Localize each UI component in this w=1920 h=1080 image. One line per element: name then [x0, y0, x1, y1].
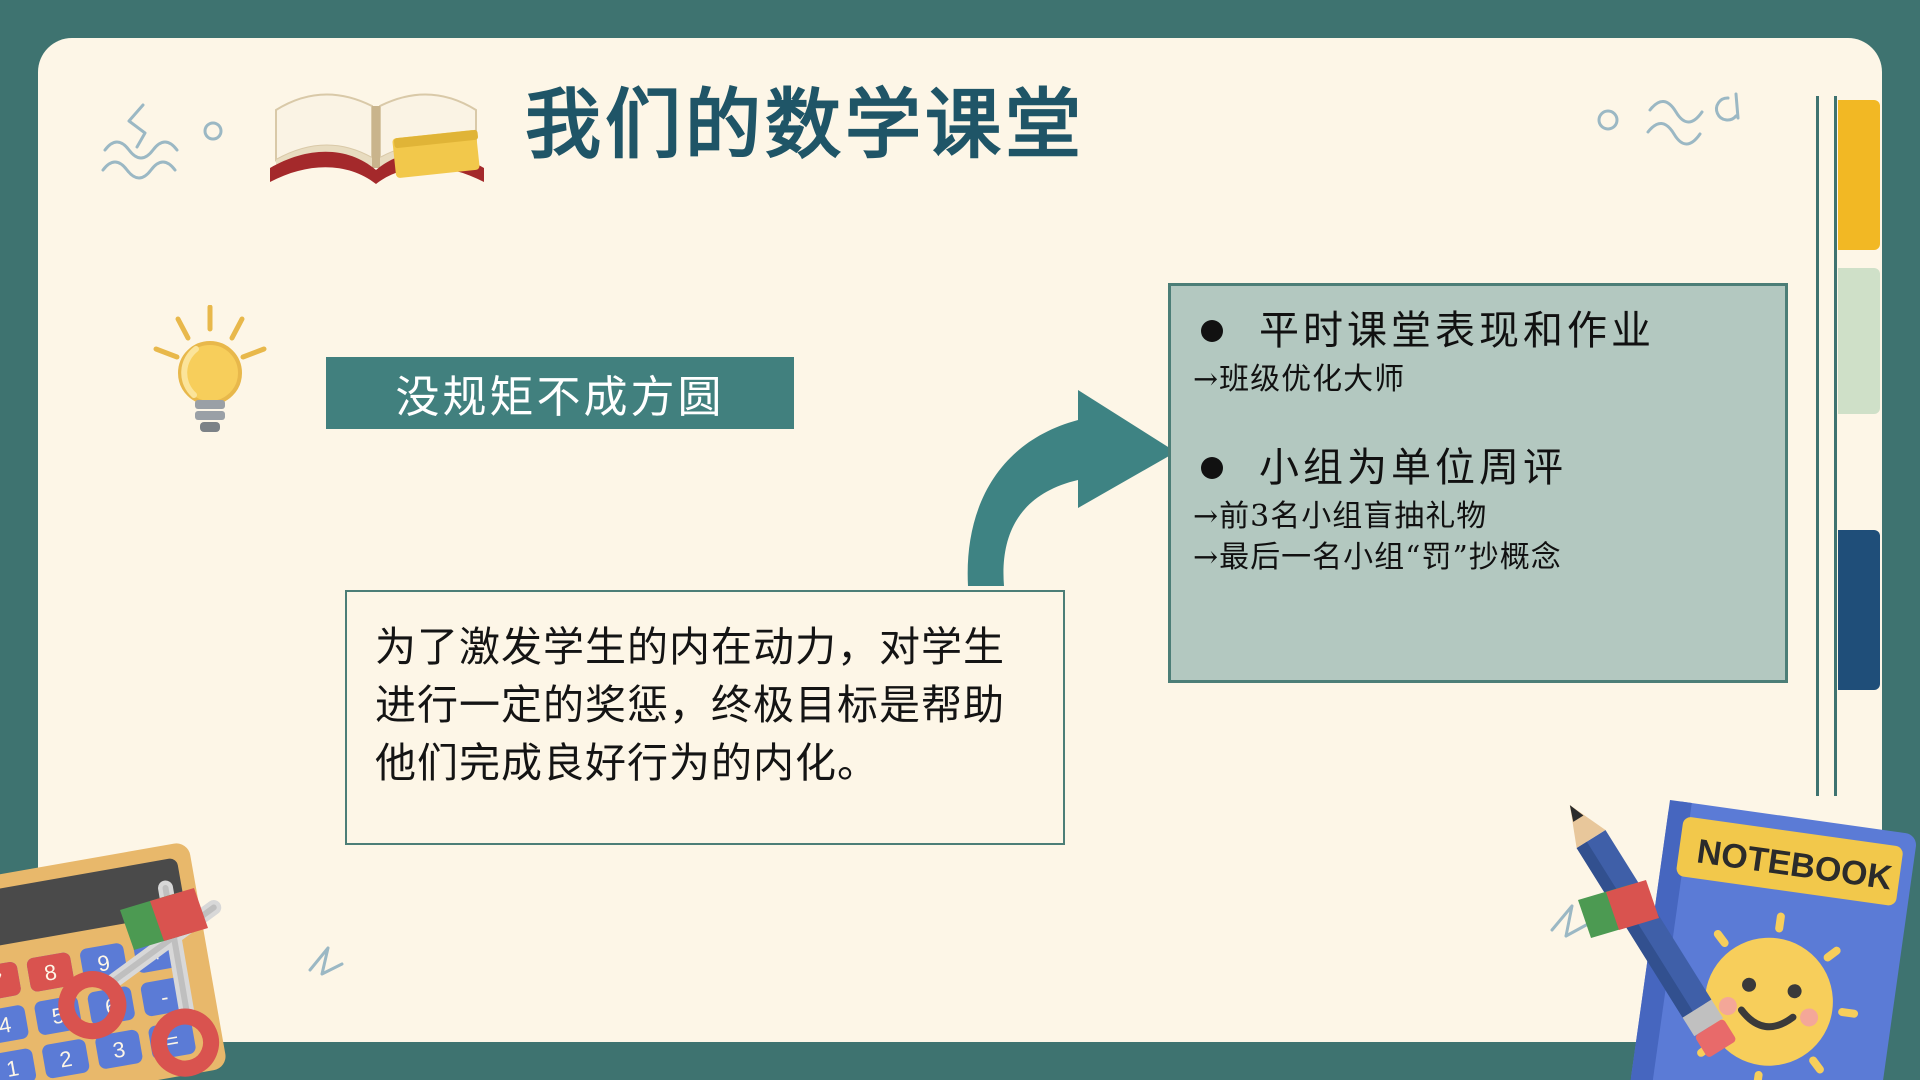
bullet-dot-icon [1201, 457, 1223, 479]
school-supplies-bottom-left: 78 9+ 45 6- 12 3= [0, 815, 430, 1080]
page-title: 我们的数学课堂 [525, 88, 1085, 164]
motto-label-text: 没规矩不成方圆 [396, 361, 725, 425]
panel-bullet-2-sub-2: →最后一名小组“罚”抄概念 [1193, 538, 1765, 577]
motto-label: 没规矩不成方圆 [326, 357, 794, 429]
curved-right-arrow-icon [962, 390, 1192, 590]
panel-bullet-2-text: 小组为单位周评 [1259, 445, 1567, 491]
slide-canvas: 我们的数学课堂 没规矩不成方圆 为了激发学生的内在动力，对学生进行一定的奖惩，终… [0, 0, 1920, 1080]
bullet-dot-icon [1201, 320, 1223, 342]
school-supplies-bottom-right: NOTEBOOK [1520, 790, 1920, 1080]
panel-bullet-1: 平时课堂表现和作业 [1193, 308, 1765, 354]
panel-bullet-1-text: 平时课堂表现和作业 [1259, 308, 1655, 354]
assessment-panel: 平时课堂表现和作业 →班级优化大师 小组为单位周评 →前3名小组盲抽礼物 →最后… [1168, 283, 1788, 683]
panel-bullet-2: 小组为单位周评 [1193, 445, 1765, 491]
strip-navy [1838, 530, 1880, 690]
strip-green [1838, 268, 1880, 414]
right-edge-line-1 [1834, 96, 1837, 796]
open-book-icon [268, 82, 488, 192]
doodle-squiggle-left [95, 95, 245, 195]
description-text: 为了激发学生的内在动力，对学生进行一定的奖惩，终极目标是帮助他们完成良好行为的内… [375, 618, 1035, 793]
panel-bullet-1-sub-1: →班级优化大师 [1193, 360, 1765, 399]
panel-spacer [1193, 399, 1765, 445]
panel-bullet-2-sub-1: →前3名小组盲抽礼物 [1193, 497, 1765, 536]
description-box: 为了激发学生的内在动力，对学生进行一定的奖惩，终极目标是帮助他们完成良好行为的内… [345, 590, 1065, 845]
doodle-squiggle-right [1590, 80, 1770, 190]
right-edge-line-2 [1816, 96, 1819, 796]
lightbulb-icon [150, 305, 270, 440]
strip-yellow [1838, 100, 1880, 250]
